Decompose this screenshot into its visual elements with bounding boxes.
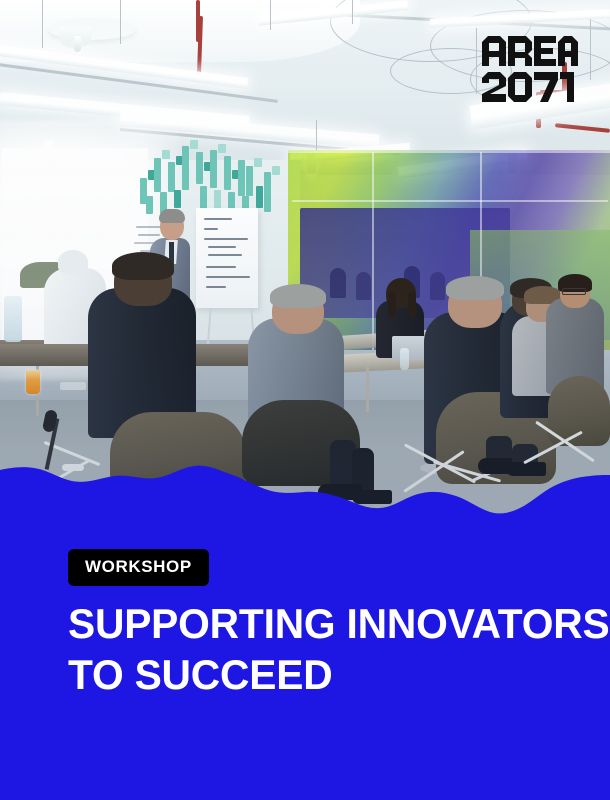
light-rod [42, 0, 43, 48]
poster-canvas: WORKSHOP SUPPORTING INNOVATORS TO SUCCEE… [0, 0, 610, 800]
phone [60, 382, 86, 390]
glass-mullion [372, 152, 374, 350]
laptop [392, 336, 428, 360]
water-bottle [400, 348, 409, 370]
light-rod [316, 120, 317, 150]
light-rod [270, 0, 271, 30]
spot-light [74, 36, 81, 52]
page-title: SUPPORTING INNOVATORS TO SUCCEED [68, 598, 572, 700]
water-bottle [4, 296, 22, 342]
light-rod [352, 0, 353, 24]
headline-line-2: TO SUCCEED [68, 649, 572, 700]
light-rod [590, 20, 591, 80]
glasses-icon [562, 288, 586, 295]
glass-top-rail [288, 150, 610, 153]
flipchart [196, 208, 258, 308]
status-badge: WORKSHOP [68, 549, 209, 586]
area-2071-logo[interactable] [482, 36, 578, 104]
headline-line-1: SUPPORTING INNOVATORS [68, 598, 572, 649]
juice-glass [26, 370, 40, 394]
light-rod [476, 28, 477, 94]
table-leg [366, 366, 369, 412]
glass-mullion [292, 200, 608, 202]
light-rod [120, 0, 121, 44]
office-chair [110, 412, 246, 490]
